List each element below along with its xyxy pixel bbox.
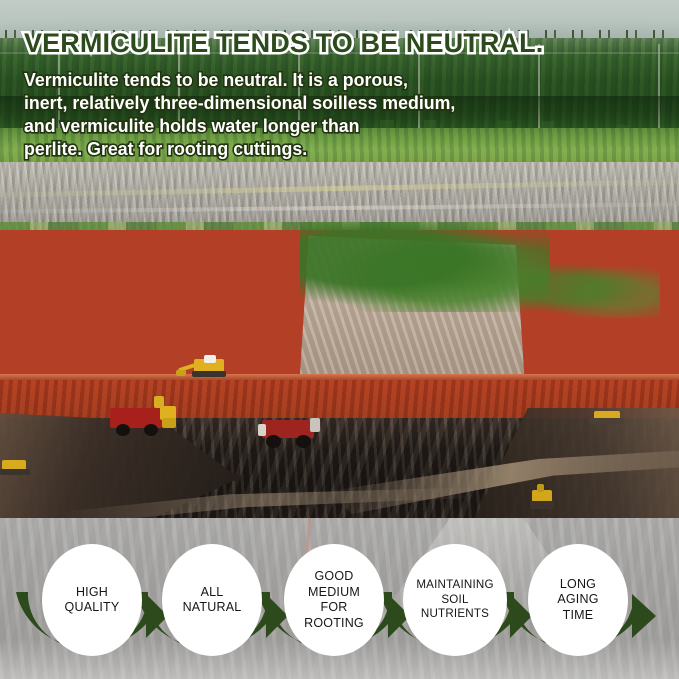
flow-node-2-line-2: NATURAL (183, 600, 242, 616)
flow-node-4-line-1: MAINTAINING (416, 578, 493, 593)
flow-node-5-text: LONG AGING TIME (557, 577, 598, 624)
flow-node-1-line-1: HIGH (65, 585, 120, 601)
bench-shrubs (300, 222, 550, 312)
flow-node-4-text: MAINTAINING SOIL NUTRIENTS (416, 578, 493, 622)
red-dump-truck (110, 404, 190, 438)
flow-node-1[interactable]: HIGH QUALITY (42, 544, 142, 656)
description-line-1: Vermiculite tends to be neutral. It is a… (24, 68, 523, 91)
flow-node-5-line-3: TIME (557, 608, 598, 624)
yellow-dozer-2 (528, 484, 556, 512)
flow-node-2-line-1: ALL (183, 585, 242, 601)
red-dump-truck-2 (258, 418, 324, 450)
flow-node-1-text: HIGH QUALITY (65, 585, 120, 616)
flow-node-4-line-3: NUTRIENTS (416, 607, 493, 622)
flow-node-2[interactable]: ALL NATURAL (162, 544, 262, 656)
flow-node-5[interactable]: LONG AGING TIME (528, 544, 628, 656)
flow-node-2-text: ALL NATURAL (183, 585, 242, 616)
yellow-loader (0, 458, 34, 476)
flow-node-3-line-2: MEDIUM (304, 585, 364, 601)
flow-node-3-text: GOOD MEDIUM FOR ROOTING (304, 569, 364, 631)
flow-node-5-line-1: LONG (557, 577, 598, 593)
flow-node-4[interactable]: MAINTAINING SOIL NUTRIENTS (403, 544, 507, 656)
flow-node-1-line-2: QUALITY (65, 600, 120, 616)
mine-pit-photo (0, 222, 679, 522)
flow-node-3-line-1: GOOD (304, 569, 364, 585)
poster-root: VERMICULITE TENDS TO BE NEUTRAL. Vermicu… (0, 0, 679, 679)
description-line-2: inert, relatively three-dimensional soil… (24, 91, 523, 114)
flow-node-3-line-4: ROOTING (304, 616, 364, 632)
flow-node-3-line-3: FOR (304, 600, 364, 616)
yellow-bulldozer (590, 410, 624, 426)
description-paragraph: Vermiculite tends to be neutral. It is a… (24, 68, 523, 160)
flow-node-3[interactable]: GOOD MEDIUM FOR ROOTING (284, 544, 384, 656)
bench-shrubs-right (520, 258, 660, 318)
page-title: VERMICULITE TENDS TO BE NEUTRAL. (24, 28, 677, 59)
benefits-flow-diagram: HIGH QUALITY ALL NATURAL GOOD MEDIUM FOR… (0, 518, 679, 679)
description-line-3: and vermiculite holds water longer than (24, 114, 523, 137)
yellow-excavator (178, 357, 230, 381)
flow-node-4-line-2: SOIL (416, 593, 493, 608)
flow-node-5-line-2: AGING (557, 592, 598, 608)
description-line-4: perlite. Great for rooting cuttings. (24, 137, 523, 160)
